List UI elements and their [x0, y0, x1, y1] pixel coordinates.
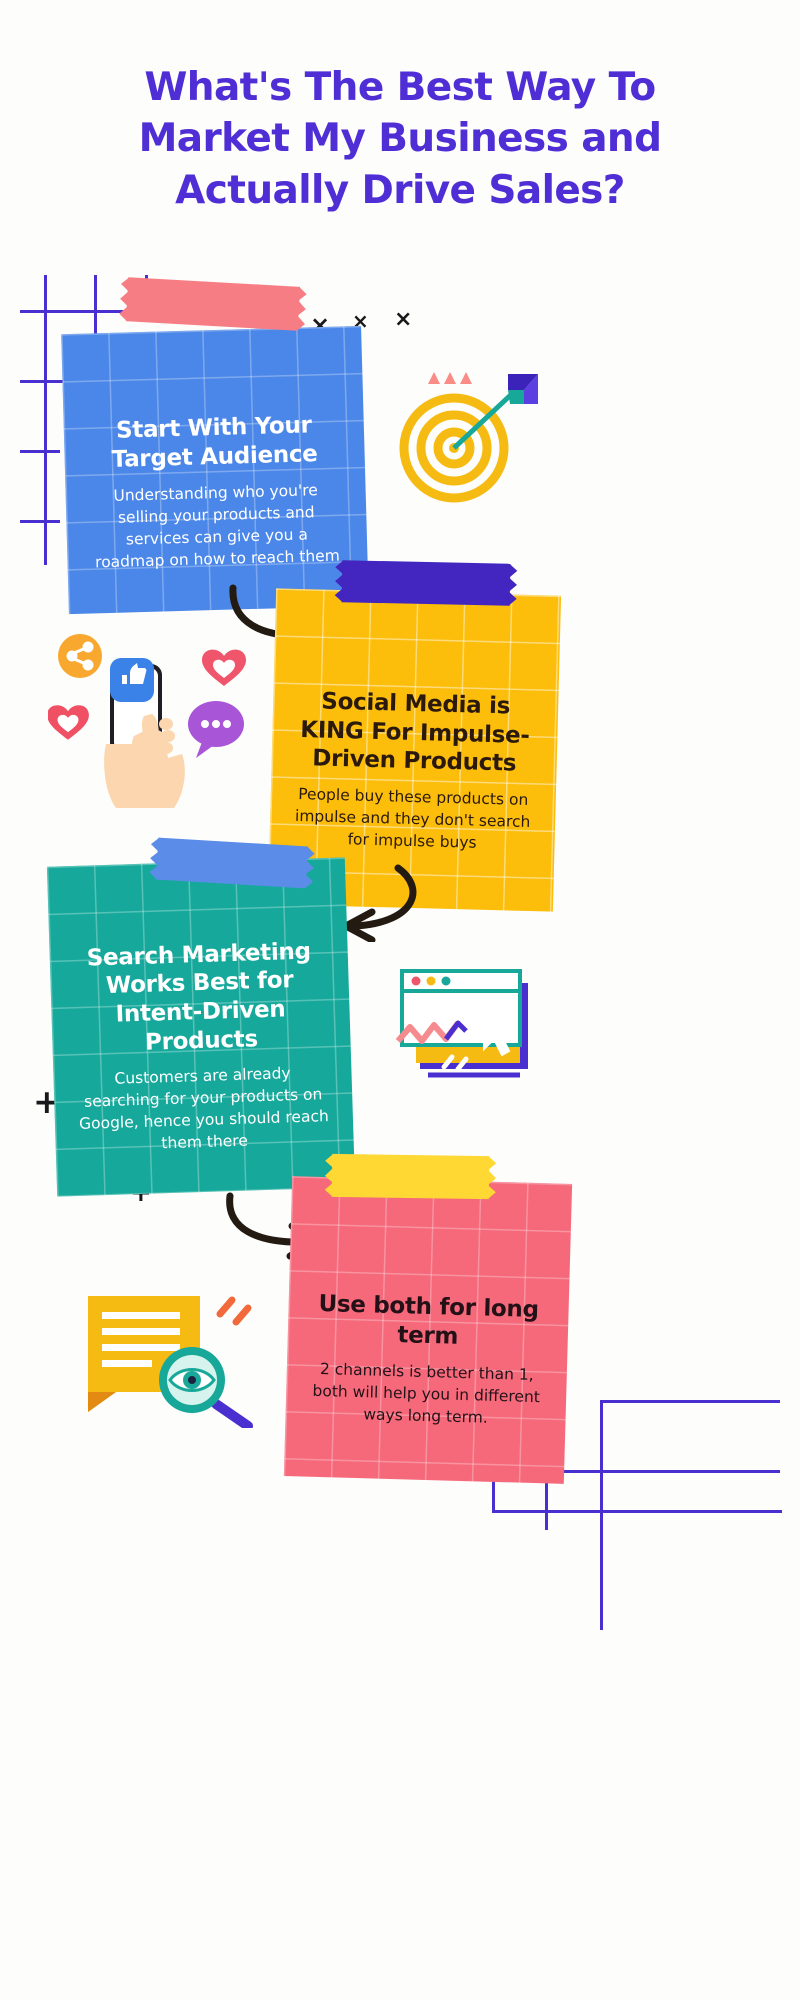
- page-title-line-3: Actually Drive Sales?: [0, 165, 800, 216]
- target-dartboard-icon: [392, 358, 552, 508]
- page-title: What's The Best Way To Market My Busines…: [0, 62, 800, 216]
- infographic-canvas: × × × × + + + + What's The Best Way To M…: [0, 0, 800, 2000]
- page-title-line-2: Market My Business and: [0, 113, 800, 164]
- card-body: Understanding who you're selling your pr…: [87, 478, 345, 573]
- card-body: People buy these products on impulse and…: [291, 783, 534, 855]
- card-heading: Search Marketing Works Best for Intent-D…: [71, 937, 328, 1059]
- bg-grid-hline: [20, 450, 60, 453]
- bg-grid-hline: [545, 1470, 780, 1473]
- card-heading: Use both for long term: [309, 1290, 547, 1354]
- tape-yellow: [323, 1154, 499, 1199]
- phone-social-engagement-icon: [48, 632, 268, 822]
- bg-grid-hline: [492, 1510, 782, 1513]
- card-search-marketing[interactable]: Search Marketing Works Best for Intent-D…: [47, 857, 355, 1196]
- bg-grid-vline: [600, 1400, 603, 1630]
- bg-grid-hline: [600, 1400, 780, 1403]
- card-body: Customers are already searching for your…: [75, 1061, 332, 1157]
- card-heading: Social Media is KING For Impulse-Driven …: [293, 687, 536, 779]
- card-target-audience[interactable]: Start With Your Target Audience Understa…: [61, 326, 369, 614]
- document-magnifier-icon: [70, 1288, 270, 1428]
- card-heading: Start With Your Target Audience: [85, 411, 342, 475]
- browser-window-chart-icon: [392, 965, 552, 1085]
- bg-grid-hline: [20, 520, 60, 523]
- page-title-line-1: What's The Best Way To: [0, 62, 800, 113]
- tape-purple: [333, 560, 520, 606]
- x-mark-icon: ×: [394, 309, 412, 331]
- card-body: 2 channels is better than 1, both will h…: [307, 1357, 545, 1430]
- tape-pink: [117, 277, 309, 332]
- card-use-both[interactable]: Use both for long term 2 channels is bet…: [284, 1176, 572, 1484]
